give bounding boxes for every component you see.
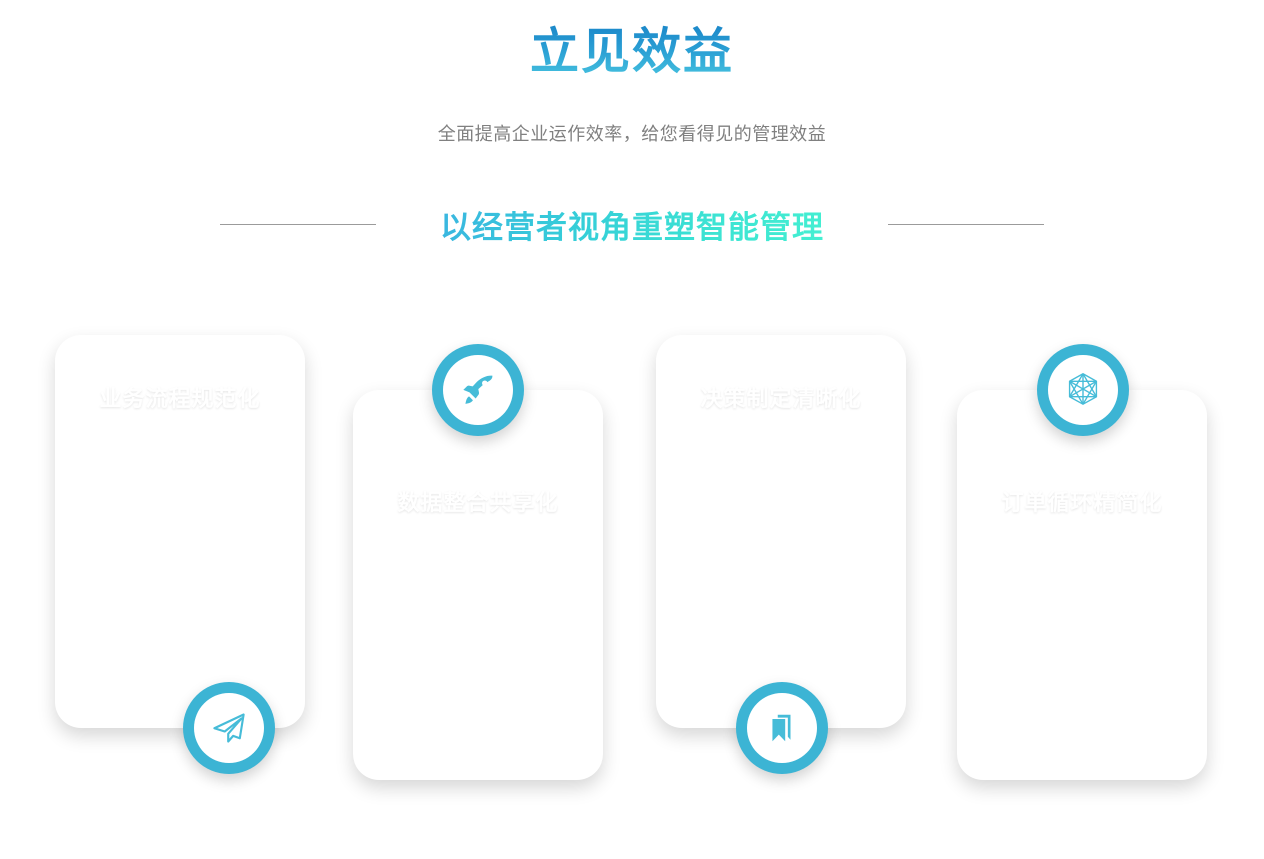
card-body: 理顺企业业务流程 规范日常管理 实现企业协同运作 xyxy=(67,467,293,554)
promo-page: 立见效益 全面提高企业运作效率，给您看得见的管理效益 以经营者视角重塑智能管理 … xyxy=(0,0,1264,859)
card-body: 物流、资金流、信息流 整合运作 实现信息共享 xyxy=(365,573,591,660)
bookmark-icon-badge xyxy=(736,682,828,774)
feature-card-4[interactable]: 订单循环精简化 快速响应客户需求 缩短交付周期降低运营成本 强化企业核心竞争力 xyxy=(957,390,1207,780)
card-body: 快速响应客户需求 缩短交付周期降低运营成本 强化企业核心竞争力 xyxy=(969,573,1195,660)
card-title: 订单循环精简化 xyxy=(957,485,1207,517)
badge-inner xyxy=(194,693,264,763)
feature-card-2[interactable]: 数据整合共享化 物流、资金流、信息流 整合运作 实现信息共享 xyxy=(353,390,603,780)
feature-card-3[interactable]: 决策制定清晰化 制定策略有据可依 监控执行有章可循 全面提升企业运营管理能力 xyxy=(656,335,906,728)
badge-inner xyxy=(443,355,513,425)
rocket-icon-badge xyxy=(432,344,524,436)
paper-plane-icon xyxy=(211,710,247,746)
badge-inner xyxy=(1048,355,1118,425)
card-title: 业务流程规范化 xyxy=(55,381,305,413)
hexagon-network-icon xyxy=(1064,371,1102,409)
card-body: 制定策略有据可依 监控执行有章可循 全面提升企业运营管理能力 xyxy=(668,467,894,554)
badge-inner xyxy=(747,693,817,763)
feature-card-1[interactable]: 业务流程规范化 理顺企业业务流程 规范日常管理 实现企业协同运作 xyxy=(55,335,305,728)
rocket-icon xyxy=(461,373,495,407)
feature-card-grid: 业务流程规范化 理顺企业业务流程 规范日常管理 实现企业协同运作 xyxy=(0,0,1264,859)
card-title: 决策制定清晰化 xyxy=(656,381,906,413)
paper-plane-icon-badge xyxy=(183,682,275,774)
bookmark-icon xyxy=(765,711,799,745)
card-title: 数据整合共享化 xyxy=(353,485,603,517)
hexagon-network-icon-badge xyxy=(1037,344,1129,436)
